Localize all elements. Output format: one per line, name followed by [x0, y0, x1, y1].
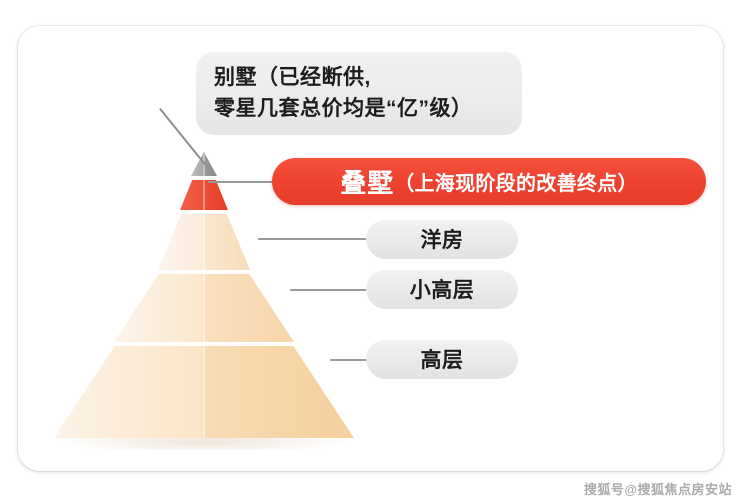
- label-yangfang-text: 洋房: [421, 224, 464, 254]
- label-gaoceng-text: 高层: [421, 344, 464, 374]
- label-villa-line1: 别墅（已经断供,: [214, 62, 371, 93]
- label-yangfang[interactable]: 洋房: [366, 219, 518, 259]
- label-xiaogaoceng-text: 小高层: [410, 274, 475, 304]
- label-xiaogaoceng[interactable]: 小高层: [366, 269, 518, 309]
- label-gaoceng[interactable]: 高层: [366, 339, 518, 379]
- label-dieshu-note: （上海现阶段的改善终点）: [394, 167, 638, 196]
- connector-xiaogaoceng: [290, 289, 376, 291]
- connector-dieshu: [208, 181, 280, 183]
- watermark: 搜狐号@搜狐焦点房安站: [584, 479, 732, 498]
- label-villa[interactable]: 别墅（已经断供, 零星几套总价均是“亿”级）: [196, 51, 522, 135]
- label-dieshu-title: 叠墅: [340, 163, 394, 200]
- watermark-text: 搜狐号@搜狐焦点房安站: [584, 482, 732, 497]
- label-villa-line2: 零星几套总价均是“亿”级）: [214, 93, 473, 124]
- connector-yangfang: [258, 238, 376, 240]
- label-dieshu[interactable]: 叠墅 （上海现阶段的改善终点）: [272, 158, 706, 205]
